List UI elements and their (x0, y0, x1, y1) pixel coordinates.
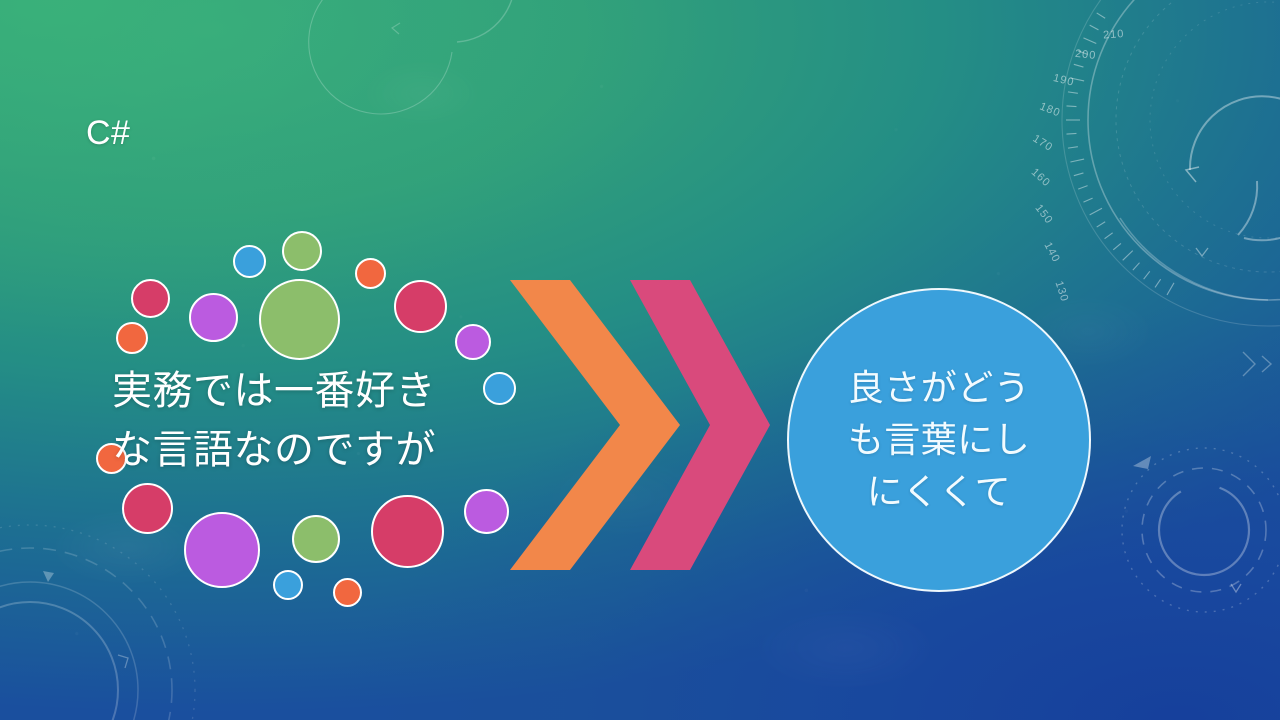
left-statement-line-2: な言語なのですが (112, 421, 532, 480)
dot-purple-bottom-right (464, 489, 509, 534)
left-statement-text: 実務では一番好き な言語なのですが (112, 362, 532, 480)
dot-crimson-large-bottom (371, 495, 444, 568)
result-line-2: も言葉にし (848, 414, 1031, 466)
result-circle: 良さがどう も言葉にし にくくて (787, 288, 1091, 592)
dot-crimson-upper-left (131, 279, 170, 318)
dot-purple-large-bottom (184, 512, 260, 588)
dot-green-small-top (282, 231, 322, 271)
dot-orange-top-right (355, 258, 386, 289)
dot-purple-right-upper (455, 324, 491, 360)
slide-canvas: 130 140 150 160 170 180 190 200 210 (0, 0, 1280, 720)
dot-purple-left (189, 293, 238, 342)
result-circle-text: 良さがどう も言葉にし にくくて (848, 362, 1031, 519)
dot-orange-far-left (116, 322, 148, 354)
dot-crimson-upper-right (394, 280, 447, 333)
dot-green-bottom (292, 515, 340, 563)
left-statement-line-1: 実務では一番好き (112, 362, 532, 421)
decorative-dot-cluster (0, 0, 560, 620)
result-line-1: 良さがどう (848, 362, 1031, 414)
dot-blue-bottom (273, 570, 303, 600)
dot-orange-bottom (333, 578, 362, 607)
double-chevron-right-icon (505, 280, 775, 570)
dot-blue-top-left (233, 245, 266, 278)
dot-crimson-lower-left (122, 483, 173, 534)
dot-green-large (259, 279, 340, 360)
result-line-3: にくくて (848, 466, 1031, 518)
